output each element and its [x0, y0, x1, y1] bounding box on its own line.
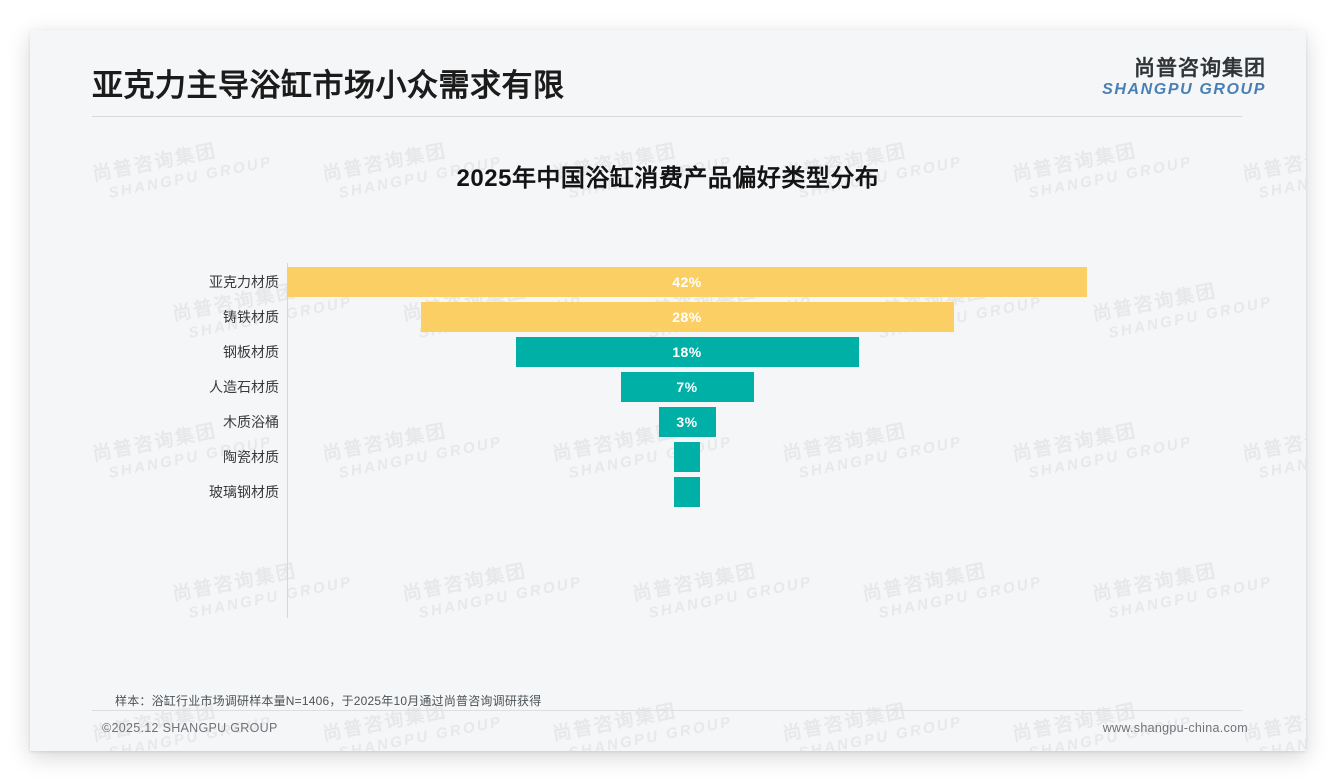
bar-row: 钢板材质18% — [30, 335, 1306, 370]
bar-value-label: 42% — [672, 274, 702, 290]
chart-area: 2025年中国浴缸消费产品偏好类型分布 亚克力材质42%铸铁材质28%钢板材质1… — [30, 130, 1306, 650]
bar-value-label: 28% — [672, 309, 702, 325]
bar-category-label: 铸铁材质 — [223, 300, 279, 335]
bar-人造石材质[interactable]: 7% — [621, 372, 754, 402]
slide-footer: ©2025.12 SHANGPU GROUP www.shangpu-china… — [30, 711, 1306, 751]
website-link[interactable]: www.shangpu-china.com — [1103, 721, 1248, 735]
slide-canvas: 尚普咨询集团SHANGPU GROUP尚普咨询集团SHANGPU GROUP尚普… — [30, 30, 1306, 751]
page-title: 亚克力主导浴缸市场小众需求有限 — [92, 60, 565, 105]
bar-row: 木质浴桶3% — [30, 405, 1306, 440]
slide-header: 亚克力主导浴缸市场小众需求有限 尚普咨询集团 SHANGPU GROUP — [30, 30, 1306, 130]
bar-list: 亚克力材质42%铸铁材质28%钢板材质18%人造石材质7%木质浴桶3%陶瓷材质玻… — [30, 265, 1306, 510]
bar-category-label: 亚克力材质 — [209, 265, 279, 300]
bar-value-label: 18% — [672, 344, 702, 360]
sample-note: 样本：浴缸行业市场调研样本量N=1406，于2025年10月通过尚普咨询调研获得 — [115, 692, 541, 709]
bar-玻璃钢材质[interactable] — [674, 477, 700, 507]
brand-name-cn: 尚普咨询集团 — [1102, 58, 1266, 80]
brand-name-en: SHANGPU GROUP — [1102, 82, 1266, 99]
bar-陶瓷材质[interactable] — [674, 442, 700, 472]
bar-category-label: 钢板材质 — [223, 335, 279, 370]
copyright-text: ©2025.12 SHANGPU GROUP — [102, 721, 278, 735]
bar-category-label: 木质浴桶 — [223, 405, 279, 440]
chart-title: 2025年中国浴缸消费产品偏好类型分布 — [30, 158, 1306, 193]
bar-铸铁材质[interactable]: 28% — [421, 302, 954, 332]
bar-row: 铸铁材质28% — [30, 300, 1306, 335]
bar-category-label: 人造石材质 — [209, 370, 279, 405]
bar-category-label: 玻璃钢材质 — [209, 475, 279, 510]
bar-亚克力材质[interactable]: 42% — [287, 267, 1087, 297]
bar-row: 人造石材质7% — [30, 370, 1306, 405]
title-divider — [92, 116, 1242, 117]
brand-logo: 尚普咨询集团 SHANGPU GROUP — [1102, 58, 1266, 99]
bar-category-label: 陶瓷材质 — [223, 440, 279, 475]
bar-row: 陶瓷材质 — [30, 440, 1306, 475]
bar-钢板材质[interactable]: 18% — [516, 337, 859, 367]
funnel-bar-chart: 亚克力材质42%铸铁材质28%钢板材质18%人造石材质7%木质浴桶3%陶瓷材质玻… — [30, 265, 1306, 625]
bar-row: 亚克力材质42% — [30, 265, 1306, 300]
bar-value-label: 7% — [676, 379, 697, 395]
bar-row: 玻璃钢材质 — [30, 475, 1306, 510]
bar-木质浴桶[interactable]: 3% — [659, 407, 716, 437]
bar-value-label: 3% — [676, 414, 697, 430]
